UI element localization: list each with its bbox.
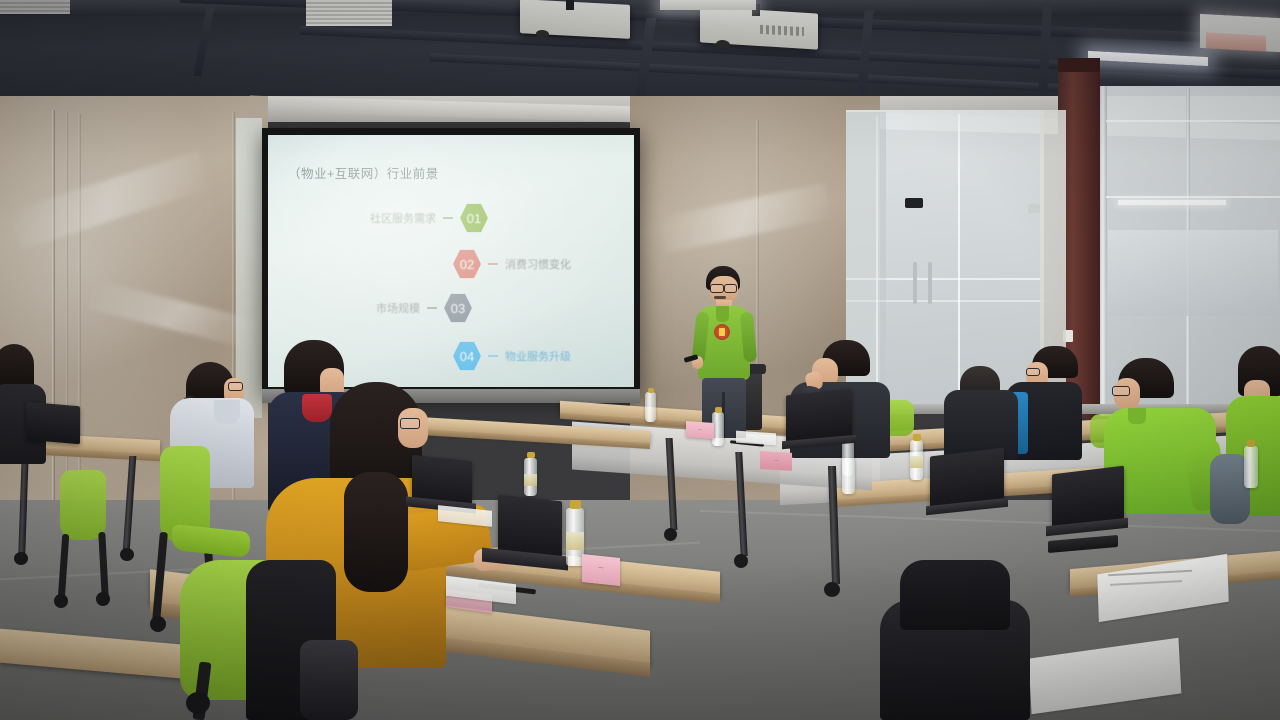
marble-seam <box>66 112 68 532</box>
bottle-cap <box>527 452 535 458</box>
slide-item-label: 市场规模 <box>376 300 420 316</box>
slide-item-label: 物业服务升级 <box>505 348 571 364</box>
name-card: — <box>760 451 792 471</box>
name-card-text: — <box>582 554 620 573</box>
conference-room-photo: （物业+互联网）行业前景 社区服务需求 01 02 消费习惯变化 市场规模 03… <box>0 0 1280 720</box>
slide-item-03: 市场规模 03 <box>376 293 472 323</box>
chair-caster <box>96 592 110 606</box>
bottle-cap <box>570 500 581 509</box>
glasses-icon <box>400 418 420 429</box>
glass-mullion <box>1100 86 1107 416</box>
ceiling-light-icon <box>660 0 756 10</box>
door-handle <box>913 262 917 304</box>
glasses-icon <box>1026 368 1040 376</box>
table-caster <box>734 554 748 568</box>
wall-glass-strip <box>236 118 262 418</box>
bottle-cap <box>648 388 654 393</box>
slide-item-01: 社区服务需求 01 <box>370 203 488 233</box>
water-bottle <box>842 458 855 494</box>
bottle-label <box>524 474 537 486</box>
projector-lens-icon <box>716 40 730 50</box>
bottle-cap <box>913 434 921 441</box>
slide-item-label: 消费习惯变化 <box>505 256 571 272</box>
bottle-label <box>566 532 584 550</box>
chair <box>60 470 106 540</box>
slide-title: （物业+互联网）行业前景 <box>288 163 439 182</box>
interior-light-reflection <box>1118 200 1226 205</box>
attendee-scarf <box>302 394 332 422</box>
slide-item-number: 02 <box>453 249 481 279</box>
slide-item-number: 04 <box>453 341 481 371</box>
chair-armrest <box>300 640 358 720</box>
slide-item-number: 01 <box>460 203 488 233</box>
slide-item-04: 04 物业服务升级 <box>453 341 571 371</box>
name-card: — <box>582 554 620 586</box>
water-bottle <box>645 392 656 422</box>
glass-rail <box>1106 120 1280 122</box>
ceiling-fixture-detail <box>1206 32 1266 51</box>
laptop <box>26 402 80 445</box>
attendee-collar <box>214 400 240 424</box>
door-frame-top <box>1058 58 1100 72</box>
table-caster <box>664 528 677 541</box>
slide-item-02: 02 消费习惯变化 <box>453 249 571 279</box>
slide-item-number: 03 <box>444 293 472 323</box>
projector-mount <box>566 0 574 10</box>
door-handle <box>928 262 932 304</box>
chair-caster <box>150 616 166 632</box>
table-caster <box>824 582 840 597</box>
presenter-mouth <box>714 296 726 299</box>
ceiling-vent <box>306 0 392 26</box>
presenter-collar <box>716 306 729 322</box>
table-caster <box>14 552 28 565</box>
glass-panel-lower <box>1108 230 1278 316</box>
chair-back-foreground <box>900 560 1010 630</box>
company-logo-detail <box>719 328 725 336</box>
glass-door-hardware <box>905 198 923 208</box>
ceiling-vent <box>0 0 70 14</box>
chair-caster <box>186 692 210 714</box>
bottle-cap <box>1247 440 1255 447</box>
glass-rail <box>1106 196 1280 198</box>
glasses-icon <box>1112 386 1130 396</box>
name-card-text: — <box>760 451 792 463</box>
attendee-collar <box>1128 408 1146 424</box>
glasses-icon <box>228 382 243 391</box>
marble-seam <box>52 110 55 530</box>
table-caster <box>120 548 134 561</box>
slide-item-label: 社区服务需求 <box>370 210 436 226</box>
shelf-cup <box>1028 204 1040 213</box>
glasses-icon <box>724 284 737 293</box>
name-card-text: — <box>686 421 714 433</box>
water-bottle <box>1244 446 1258 488</box>
chair-caster <box>54 594 68 608</box>
bottle-label <box>910 456 923 468</box>
attendee-hair-strand <box>344 472 408 592</box>
glasses-icon <box>710 284 724 293</box>
glass-mullion <box>958 114 960 410</box>
projector-lens-icon <box>536 30 549 39</box>
name-card: — <box>686 421 714 439</box>
bottle-cap <box>715 407 722 413</box>
